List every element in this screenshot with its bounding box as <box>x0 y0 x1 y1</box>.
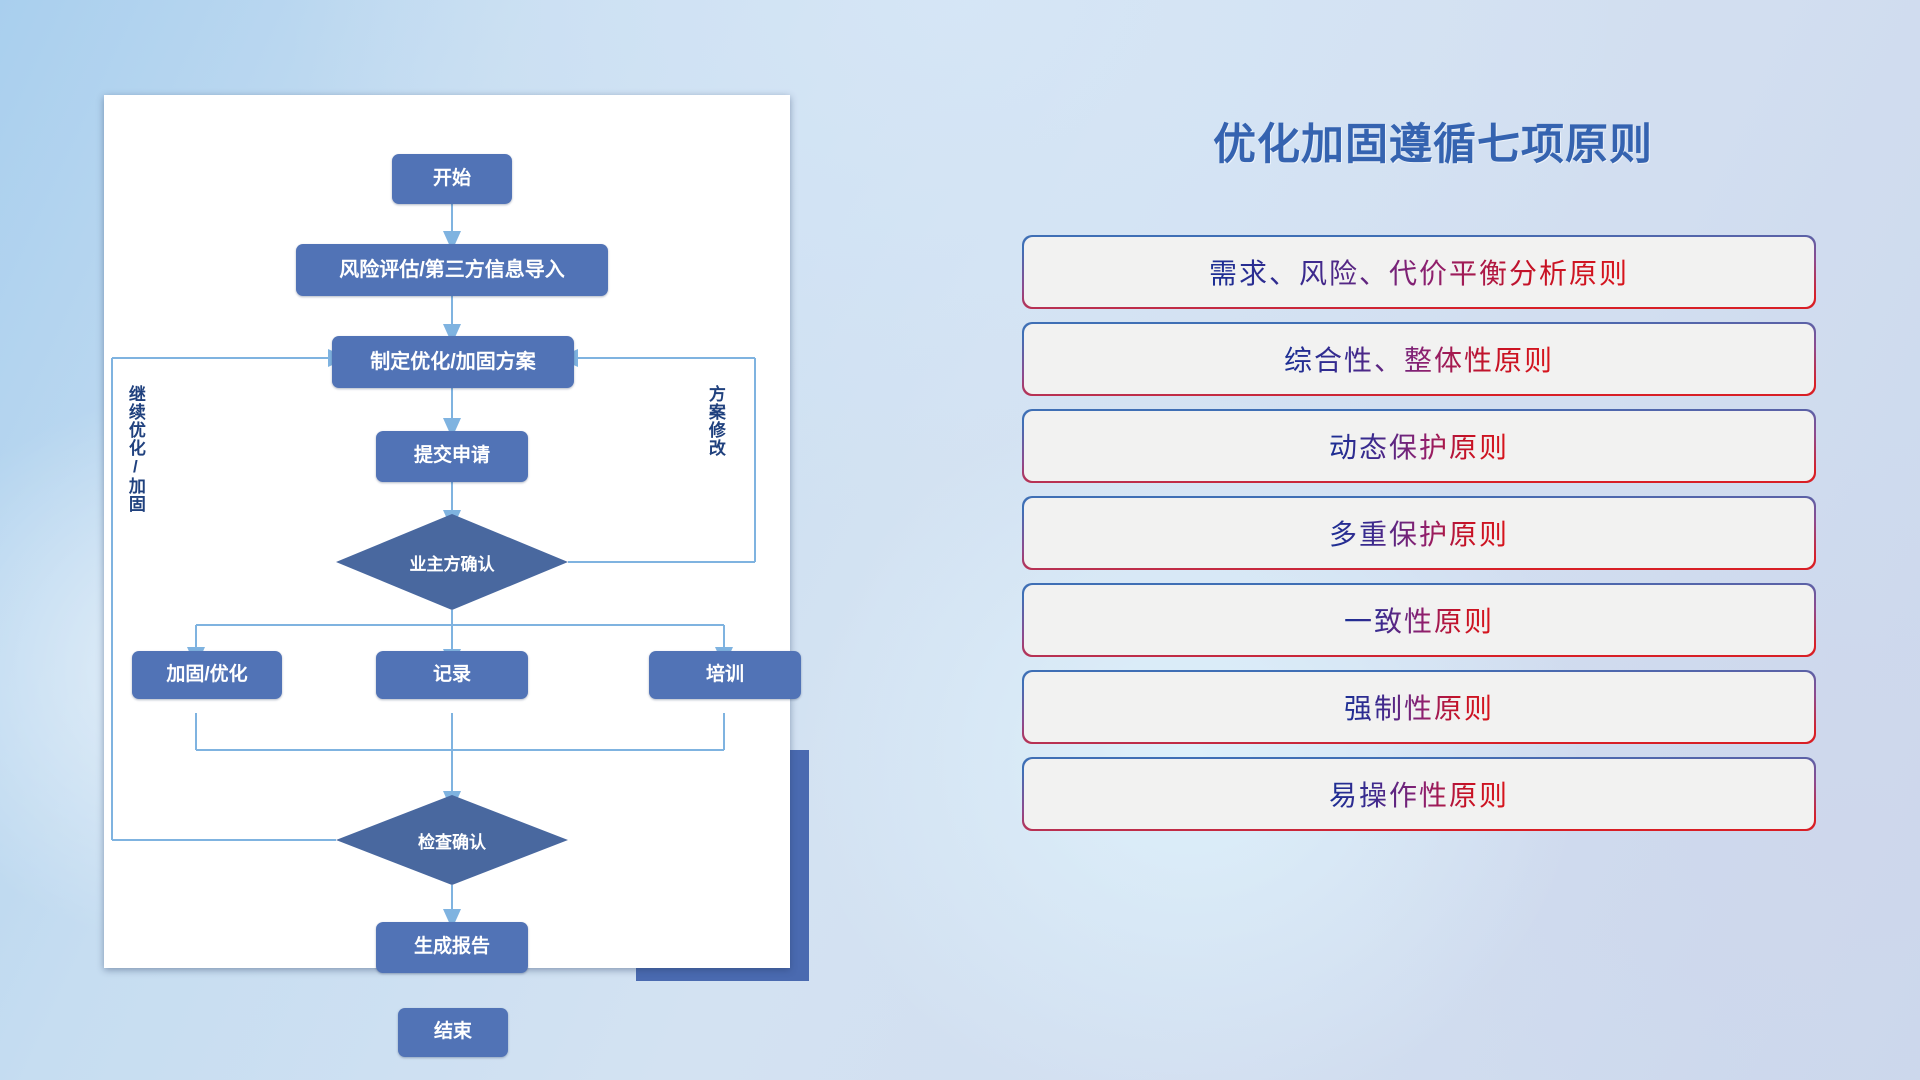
principle-item-4[interactable]: 多重保护原则 <box>1024 498 1814 568</box>
flow-node-label: 检查确认 <box>418 828 486 853</box>
flow-node-label: 加固/优化 <box>166 665 247 686</box>
flow-node-training[interactable]: 培训 <box>649 651 801 699</box>
flow-node-label: 结束 <box>434 1022 472 1043</box>
flow-edge-label-plan-revision: 方案修改 <box>706 385 724 505</box>
flow-decision-owner-confirm[interactable]: 业主方确认 <box>336 514 568 610</box>
flow-node-risk-assessment[interactable]: 风险评估/第三方信息导入 <box>296 244 608 296</box>
flow-node-label: 制定优化/加固方案 <box>370 351 536 373</box>
flow-node-record[interactable]: 记录 <box>376 651 528 699</box>
flow-decision-check-confirm[interactable]: 检查确认 <box>336 795 568 885</box>
principle-item-7[interactable]: 易操作性原则 <box>1024 759 1814 829</box>
principle-label: 需求、风险、代价平衡分析原则 <box>1209 252 1629 292</box>
flowchart-card: 开始 风险评估/第三方信息导入 制定优化/加固方案 提交申请 业主方确认 加固/… <box>104 95 790 968</box>
principle-item-1[interactable]: 需求、风险、代价平衡分析原则 <box>1024 237 1814 307</box>
flow-node-submit-application[interactable]: 提交申请 <box>376 431 528 482</box>
flow-node-make-plan[interactable]: 制定优化/加固方案 <box>332 336 574 388</box>
flow-edge-label-continue-optimize: 继续优化/加固 <box>126 385 144 555</box>
flow-node-reinforce-optimize[interactable]: 加固/优化 <box>132 651 282 699</box>
principles-panel: 优化加固遵循七项原则 需求、风险、代价平衡分析原则 综合性、整体性原则 动态保护… <box>1018 80 1848 1010</box>
flow-node-label: 生成报告 <box>414 937 490 958</box>
principle-label: 一致性原则 <box>1344 600 1494 640</box>
flow-node-label: 记录 <box>433 665 471 686</box>
flow-node-end[interactable]: 结束 <box>398 1008 508 1057</box>
panel-title: 优化加固遵循七项原则 <box>1018 110 1848 172</box>
flow-node-generate-report[interactable]: 生成报告 <box>376 922 528 973</box>
flow-node-label: 开始 <box>433 169 471 190</box>
principle-label: 易操作性原则 <box>1329 774 1509 814</box>
slide-canvas: 开始 风险评估/第三方信息导入 制定优化/加固方案 提交申请 业主方确认 加固/… <box>0 0 1920 1080</box>
flow-node-label: 提交申请 <box>414 446 490 467</box>
flow-node-label: 培训 <box>706 665 744 686</box>
principle-label: 强制性原则 <box>1344 687 1494 727</box>
flow-node-start[interactable]: 开始 <box>392 154 512 204</box>
principle-item-6[interactable]: 强制性原则 <box>1024 672 1814 742</box>
principles-list: 需求、风险、代价平衡分析原则 综合性、整体性原则 动态保护原则 多重保护原则 一… <box>1024 237 1814 846</box>
principle-item-2[interactable]: 综合性、整体性原则 <box>1024 324 1814 394</box>
flow-node-label: 风险评估/第三方信息导入 <box>339 259 565 281</box>
principle-label: 多重保护原则 <box>1329 513 1509 553</box>
principle-item-3[interactable]: 动态保护原则 <box>1024 411 1814 481</box>
principle-label: 综合性、整体性原则 <box>1284 339 1554 379</box>
principle-item-5[interactable]: 一致性原则 <box>1024 585 1814 655</box>
principle-label: 动态保护原则 <box>1329 426 1509 466</box>
flow-node-label: 业主方确认 <box>410 550 495 575</box>
